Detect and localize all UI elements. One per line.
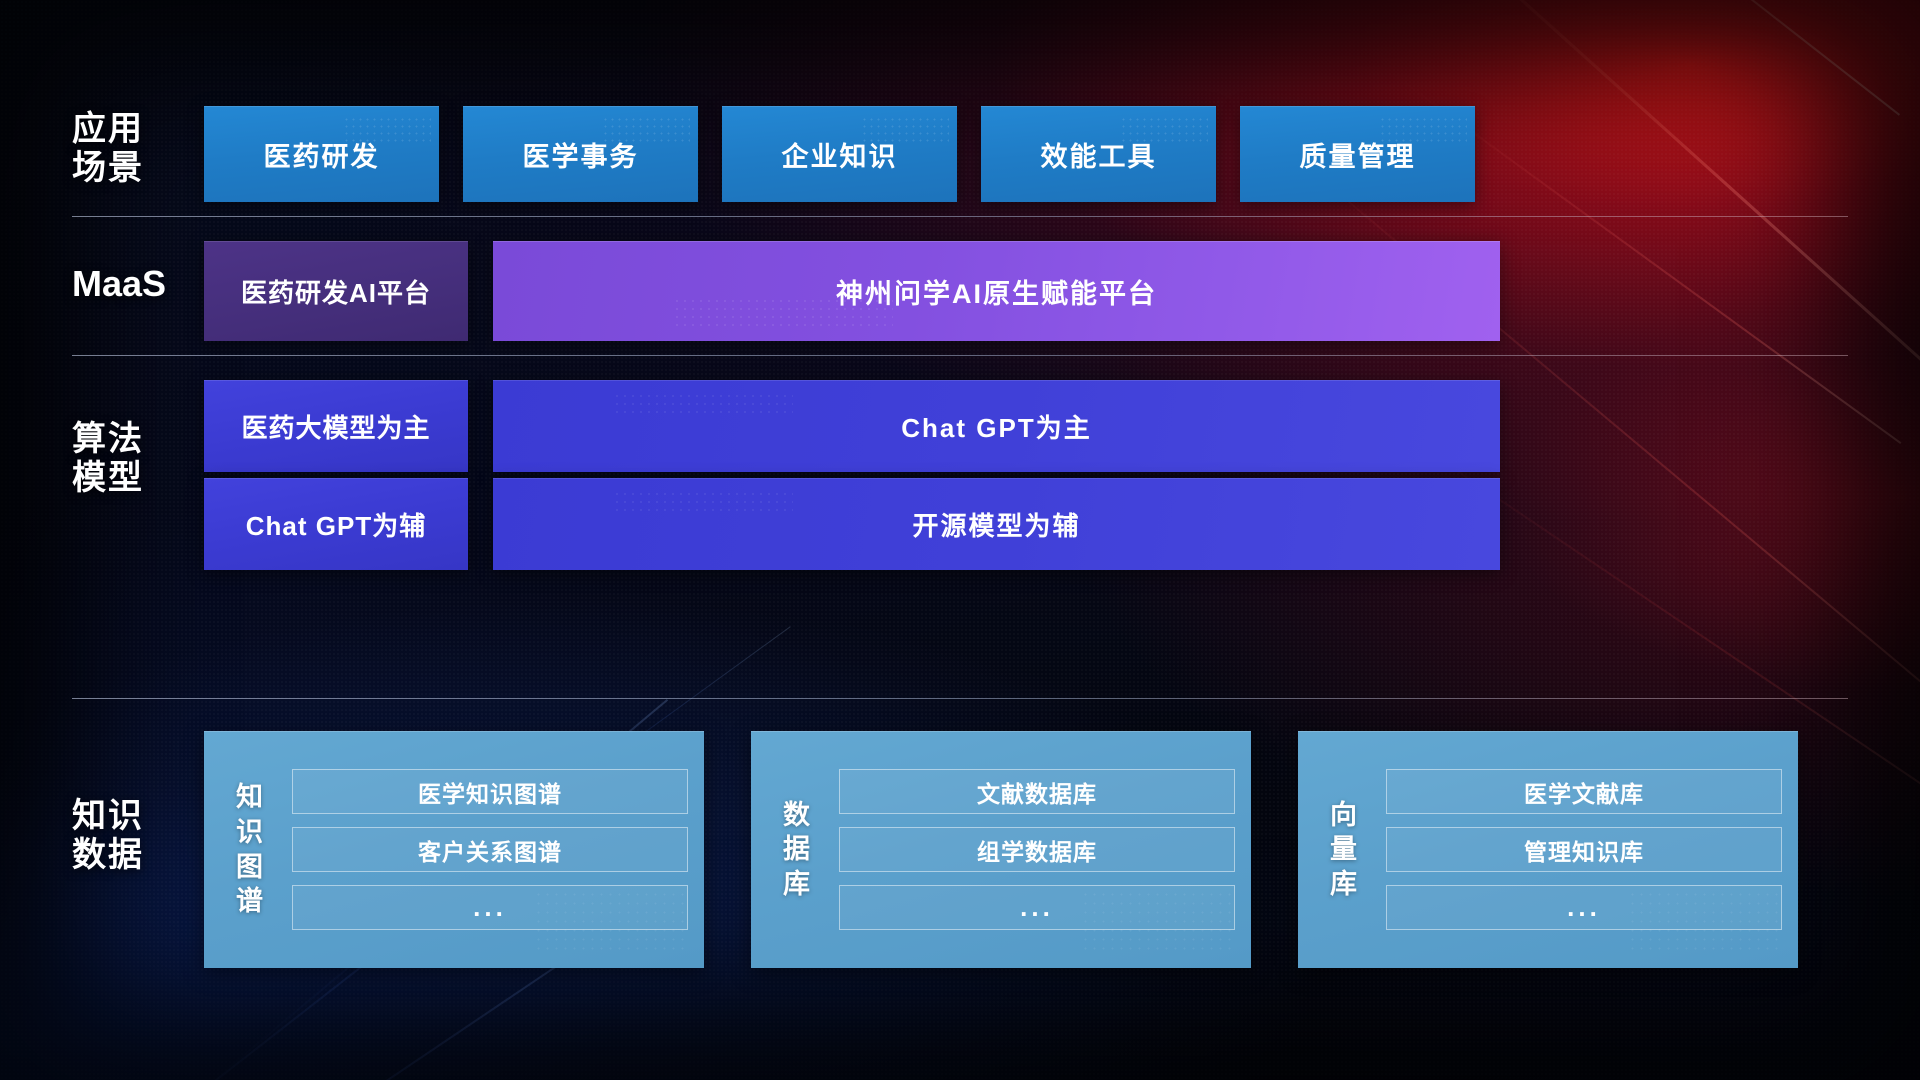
app-box-medical-affairs[interactable]: 医学事务 [463,106,698,202]
knowledge-item-label: ... [1567,892,1601,923]
app-box-label: 质量管理 [1300,135,1416,174]
knowledge-item-label: 医学知识图谱 [418,775,562,809]
knowledge-item-list: 文献数据库 组学数据库 ... [839,769,1235,930]
knowledge-item-label: 文献数据库 [977,775,1097,809]
architecture-diagram: 应用 场景 医药研发 医学事务 企业知识 效能工具 质量管理 MaaS [0,0,1920,1080]
algorithm-strip-primary: 医药大模型为主 Chat GPT为主 [204,380,1500,472]
maas-box-strip: 医药研发AI平台 神州问学AI原生赋能平台 [204,241,1500,341]
app-box-medicine-rnd[interactable]: 医药研发 [204,106,439,202]
knowledge-item-omics-database[interactable]: 组学数据库 [839,827,1235,872]
knowledge-item-customer-relation-graph[interactable]: 客户关系图谱 [292,827,688,872]
knowledge-item-label: 医学文献库 [1524,775,1644,809]
app-box-efficiency-tools[interactable]: 效能工具 [981,106,1216,202]
knowledge-item-label: ... [473,892,507,923]
knowledge-item-list: 医学文献库 管理知识库 ... [1386,769,1782,930]
knowledge-item-more[interactable]: ... [292,885,688,930]
app-box-label: 医药研发 [264,135,380,174]
vertical-label-char: 知 [236,780,264,815]
knowledge-panel-vertical-label: 知 识 图 谱 [222,780,278,918]
vertical-label-char: 库 [783,867,811,902]
knowledge-panel-knowledge-graph[interactable]: 知 识 图 谱 医学知识图谱 客户关系图谱 ... [204,731,704,968]
app-box-quality-management[interactable]: 质量管理 [1240,106,1475,202]
maas-box-label: 神州问学AI原生赋能平台 [836,272,1157,311]
knowledge-item-literature-database[interactable]: 文献数据库 [839,769,1235,814]
knowledge-panel-database[interactable]: 数 据 库 文献数据库 组学数据库 ... [751,731,1251,968]
knowledge-panel-strip: 知 识 图 谱 医学知识图谱 客户关系图谱 ... [204,731,1798,968]
knowledge-item-more[interactable]: ... [839,885,1235,930]
knowledge-item-management-knowledge-store[interactable]: 管理知识库 [1386,827,1782,872]
knowledge-item-label: ... [1020,892,1054,923]
maas-box-medicine-ai-platform[interactable]: 医药研发AI平台 [204,241,468,341]
vertical-label-char: 识 [236,815,264,850]
knowledge-item-medical-knowledge-graph[interactable]: 医学知识图谱 [292,769,688,814]
algo-box-medicine-large-model-primary[interactable]: 医药大模型为主 [204,380,468,472]
vertical-label-char: 向 [1330,798,1358,833]
algo-box-chatgpt-secondary[interactable]: Chat GPT为辅 [204,478,468,570]
knowledge-item-list: 医学知识图谱 客户关系图谱 ... [292,769,688,930]
app-box-enterprise-knowledge[interactable]: 企业知识 [722,106,957,202]
knowledge-panel-vertical-label: 数 据 库 [769,798,825,902]
vertical-label-char: 据 [783,832,811,867]
vertical-label-char: 谱 [236,884,264,919]
algo-box-label: Chat GPT为主 [901,408,1091,445]
knowledge-item-medical-literature-store[interactable]: 医学文献库 [1386,769,1782,814]
divider-after-algorithm-row [72,698,1848,699]
vertical-label-char: 数 [783,798,811,833]
divider-after-maas-row [72,355,1848,356]
knowledge-panel-vertical-label: 向 量 库 [1316,798,1372,902]
divider-after-application-row [72,216,1848,217]
knowledge-panel-vector-store[interactable]: 向 量 库 医学文献库 管理知识库 ... [1298,731,1798,968]
knowledge-item-label: 管理知识库 [1524,833,1644,867]
algo-box-label: 开源模型为辅 [912,506,1080,543]
knowledge-item-more[interactable]: ... [1386,885,1782,930]
app-box-label: 企业知识 [782,135,898,174]
app-box-label: 医学事务 [523,135,639,174]
application-box-strip: 医药研发 医学事务 企业知识 效能工具 质量管理 [204,106,1475,202]
maas-box-label: 医药研发AI平台 [241,273,431,310]
maas-box-shenzhou-wenxue-platform[interactable]: 神州问学AI原生赋能平台 [493,241,1500,341]
algo-box-label: 医药大模型为主 [241,408,430,445]
vertical-label-char: 图 [236,850,264,885]
app-box-label: 效能工具 [1041,135,1157,174]
knowledge-item-label: 客户关系图谱 [418,833,562,867]
knowledge-item-label: 组学数据库 [977,833,1097,867]
algo-box-opensource-secondary[interactable]: 开源模型为辅 [493,478,1500,570]
algo-box-chatgpt-primary[interactable]: Chat GPT为主 [493,380,1500,472]
vertical-label-char: 库 [1330,867,1358,902]
algo-box-label: Chat GPT为辅 [246,506,426,543]
algorithm-strip-secondary: Chat GPT为辅 开源模型为辅 [204,478,1500,570]
vertical-label-char: 量 [1330,832,1358,867]
